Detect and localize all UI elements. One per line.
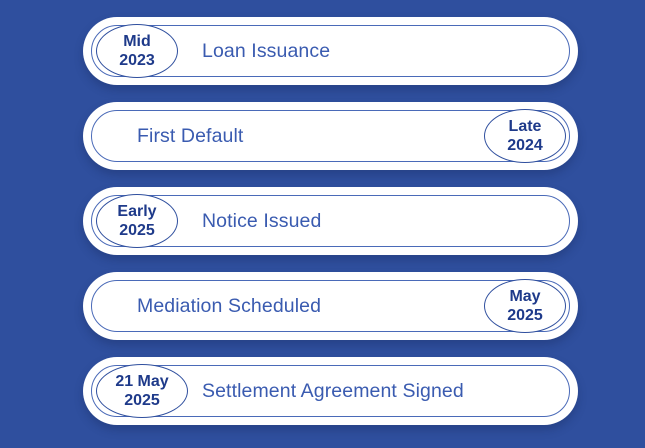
- date-line-primary: May: [509, 287, 540, 306]
- date-line-secondary: 2025: [119, 221, 155, 240]
- event-date-badge: May2025: [484, 279, 566, 333]
- date-line-primary: Mid: [123, 32, 151, 51]
- timeline-event-row[interactable]: Early2025Notice Issued: [83, 187, 578, 255]
- event-date-badge: Late2024: [484, 109, 566, 163]
- date-line-secondary: 2024: [507, 136, 543, 155]
- date-line-secondary: 2025: [507, 306, 543, 325]
- timeline-event-row[interactable]: Mid2023Loan Issuance: [83, 17, 578, 85]
- timeline-event-row[interactable]: 21 May2025Settlement Agreement Signed: [83, 357, 578, 425]
- event-label: First Default: [137, 102, 243, 170]
- date-line-primary: 21 May: [115, 372, 168, 391]
- date-line-primary: Early: [117, 202, 156, 221]
- event-label: Notice Issued: [202, 187, 321, 255]
- event-label: Settlement Agreement Signed: [202, 357, 464, 425]
- event-label: Mediation Scheduled: [137, 272, 321, 340]
- timeline-event-row[interactable]: Late2024First Default: [83, 102, 578, 170]
- date-line-secondary: 2023: [119, 51, 155, 70]
- event-label: Loan Issuance: [202, 17, 330, 85]
- event-date-badge: 21 May2025: [96, 364, 188, 418]
- date-line-primary: Late: [509, 117, 542, 136]
- event-date-badge: Mid2023: [96, 24, 178, 78]
- timeline-event-row[interactable]: May2025Mediation Scheduled: [83, 272, 578, 340]
- timeline-container: Mid2023Loan IssuanceLate2024First Defaul…: [0, 0, 645, 448]
- date-line-secondary: 2025: [124, 391, 160, 410]
- event-date-badge: Early2025: [96, 194, 178, 248]
